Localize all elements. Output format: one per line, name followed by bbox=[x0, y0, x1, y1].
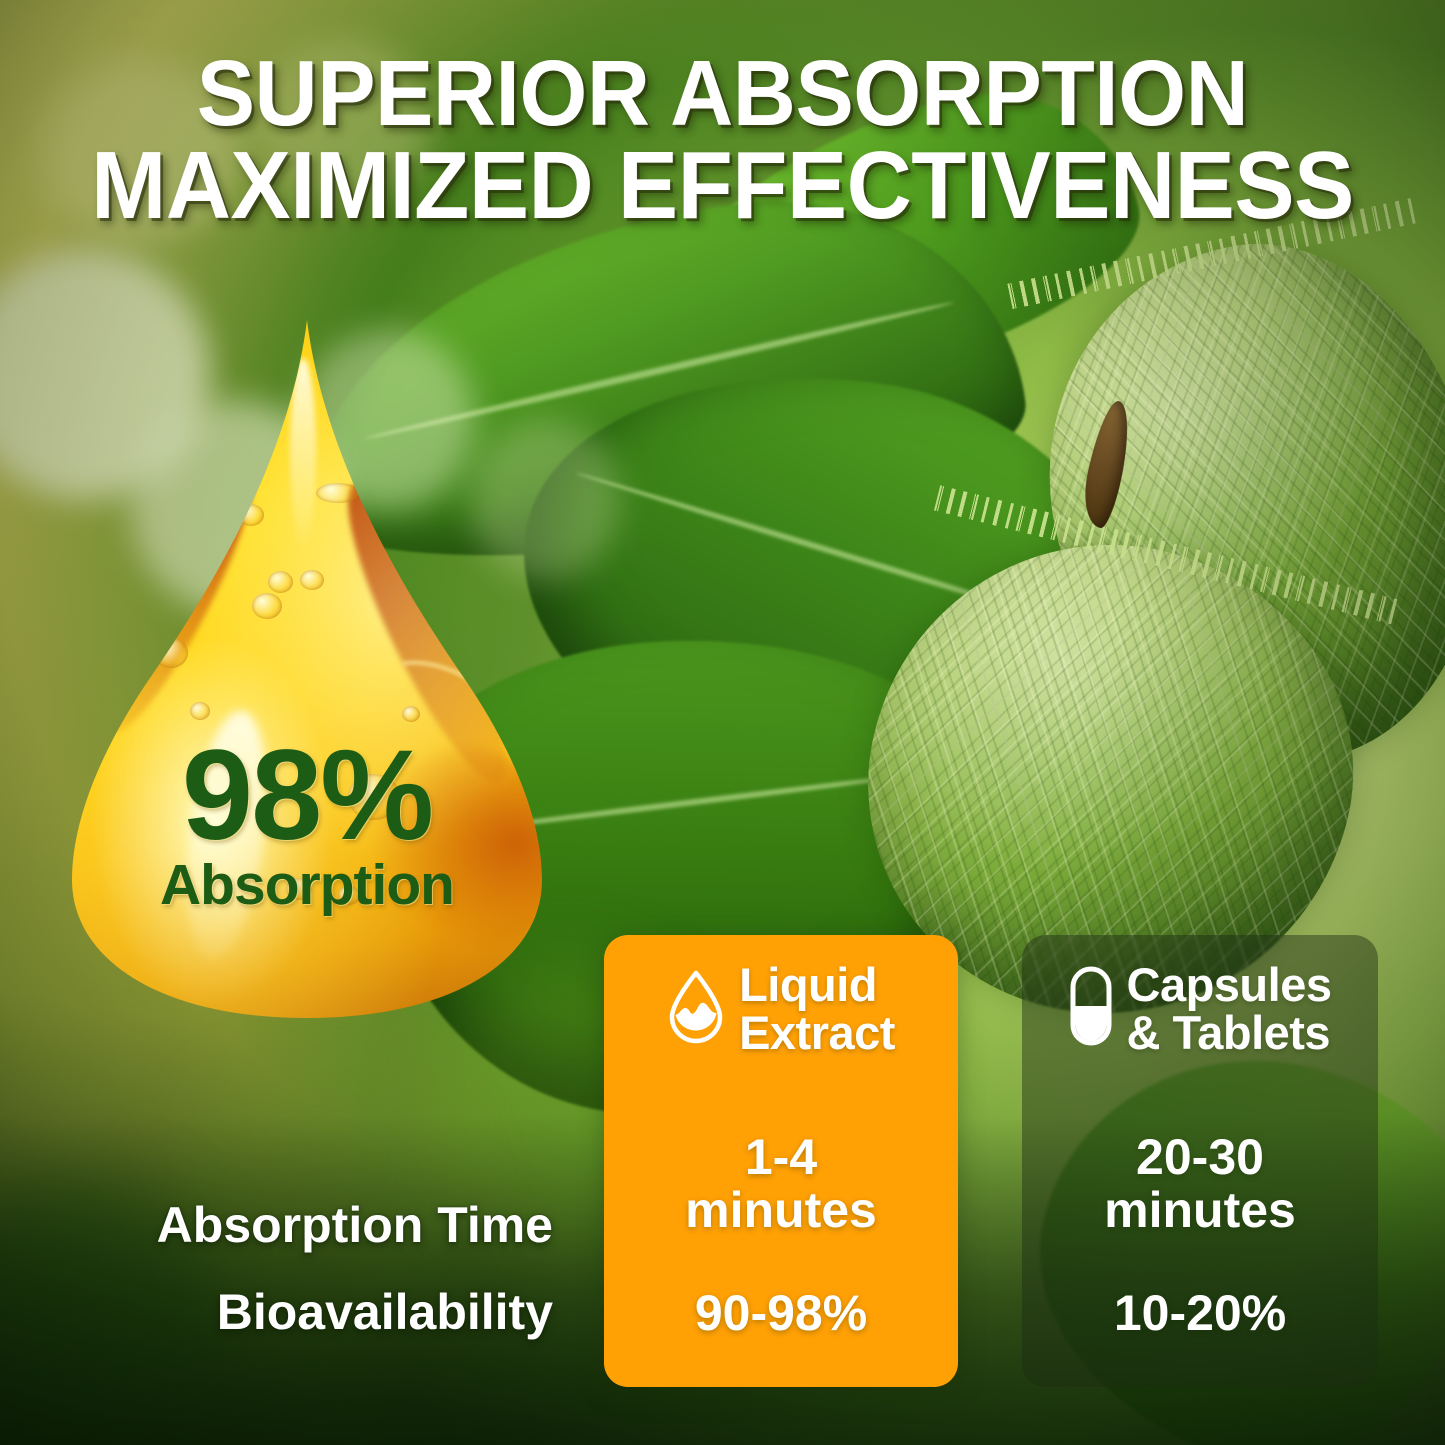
droplet-bubble bbox=[300, 570, 324, 590]
card-title-liquid-line2: Extract bbox=[739, 1006, 895, 1059]
row-label-bioavailability: Bioavailability bbox=[217, 1283, 553, 1341]
capsule-pill-icon bbox=[1069, 965, 1113, 1052]
card-title-liquid-line1: Liquid bbox=[739, 958, 877, 1011]
droplet-highlight-tip bbox=[290, 358, 316, 548]
comparison-card-capsules[interactable]: Capsules & Tablets 20-30 minutes 10-20% bbox=[1022, 935, 1378, 1387]
absorption-label: Absorption bbox=[72, 857, 542, 914]
value-capsules-absorption-time: 20-30 minutes bbox=[1022, 1131, 1378, 1237]
infographic-canvas: SUPERIOR ABSORPTION MAXIMIZED EFFECTIVEN… bbox=[0, 0, 1445, 1445]
headline: SUPERIOR ABSORPTION MAXIMIZED EFFECTIVEN… bbox=[43, 48, 1401, 233]
droplet-bubble bbox=[316, 483, 360, 503]
card-title-capsules-line1: Capsules bbox=[1127, 958, 1332, 1011]
value-capsules-bioavailability: 10-20% bbox=[1022, 1287, 1378, 1340]
droplet-bubble bbox=[238, 504, 264, 526]
droplet-shape: 98% Absorption bbox=[72, 318, 542, 1018]
droplet-bubble bbox=[402, 706, 420, 722]
card-title-capsules-line2: & Tablets bbox=[1127, 1006, 1331, 1059]
oil-droplet-badge: 98% Absorption bbox=[72, 318, 542, 1018]
card-title-capsules: Capsules & Tablets bbox=[1127, 961, 1332, 1057]
droplet-bubble bbox=[190, 702, 210, 720]
headline-line-2: MAXIMIZED EFFECTIVENESS bbox=[43, 139, 1401, 233]
card-title-liquid: Liquid Extract bbox=[739, 961, 895, 1057]
row-label-absorption-time: Absorption Time bbox=[157, 1196, 553, 1254]
headline-line-1: SUPERIOR ABSORPTION bbox=[197, 41, 1249, 145]
comparison-card-liquid[interactable]: Liquid Extract 1-4 minutes 90-98% bbox=[604, 935, 958, 1387]
card-header-capsules: Capsules & Tablets bbox=[1022, 961, 1378, 1057]
droplet-bubble bbox=[154, 638, 188, 668]
card-header-liquid: Liquid Extract bbox=[604, 961, 958, 1057]
droplet-badge-text: 98% Absorption bbox=[72, 738, 542, 914]
droplet-bubble bbox=[252, 593, 282, 619]
value-liquid-absorption-time: 1-4 minutes bbox=[604, 1131, 958, 1237]
droplet-amber-shade-left bbox=[85, 451, 275, 746]
droplet-bubble bbox=[268, 571, 293, 593]
value-liquid-bioavailability: 90-98% bbox=[604, 1287, 958, 1340]
liquid-drop-icon bbox=[667, 968, 725, 1049]
absorption-percent: 98% bbox=[72, 738, 542, 853]
